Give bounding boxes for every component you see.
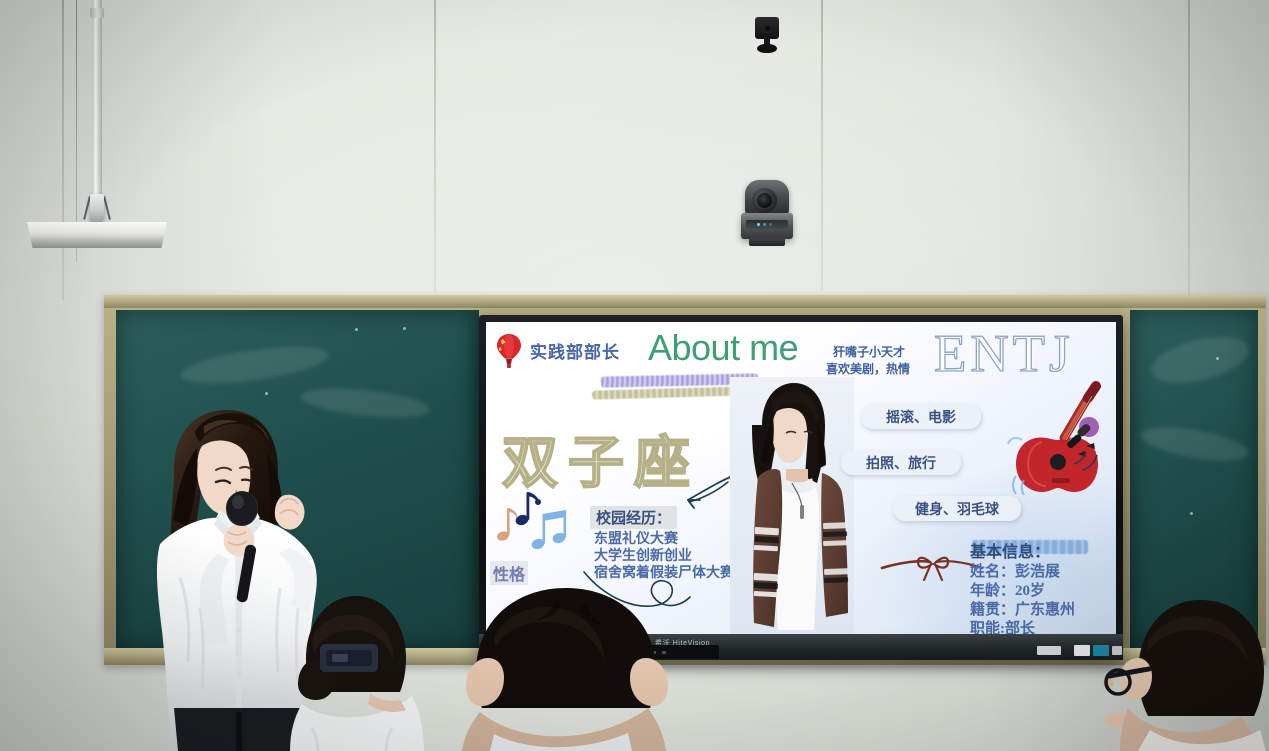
ptz-led-c	[769, 223, 772, 226]
student-front-left	[262, 588, 430, 751]
blackboard-top-rail	[104, 295, 1266, 308]
chalk-dot-5	[1190, 512, 1193, 515]
lamp-collar	[90, 8, 104, 18]
wall-camera-small-lens-icon	[763, 24, 772, 33]
classroom-photo: 实践部部长 About me 犴嘴子小天才 喜欢美剧，热情 ENTJ 双子座	[0, 0, 1269, 751]
basic-info-row-3: 职能:部长	[970, 617, 1035, 634]
ptz-led-a	[757, 223, 760, 226]
basic-info-row-0: 姓名：彭浩展	[970, 560, 1060, 581]
ptz-lens-icon	[757, 193, 772, 208]
wall-camera-small-base	[757, 44, 777, 53]
slide-subtitle-line1: 犴嘴子小天才	[833, 343, 905, 360]
slide-subtitle-line2: 喜欢美剧，热情	[826, 360, 910, 377]
chalk-dot-1	[355, 328, 358, 331]
lamp-fixture	[27, 222, 167, 248]
chalk-dot-4	[1216, 357, 1219, 360]
experience-header: 校园经历：	[590, 506, 677, 529]
hot-air-balloon-icon	[494, 333, 524, 371]
lamp-head	[90, 194, 104, 222]
student-front-center	[436, 586, 696, 751]
hobby-pill-1: 拍照、旅行	[841, 450, 961, 475]
slide-zodiac-label: 双子座	[502, 418, 700, 499]
ptz-wall-mount	[749, 238, 785, 246]
presenter-portrait-photo	[730, 377, 854, 634]
display-badge-2	[1074, 645, 1090, 656]
student-front-right	[1098, 590, 1269, 751]
display-badge-1	[1037, 646, 1061, 655]
ptz-front-strip	[746, 220, 788, 229]
ribbon-bow-icon	[880, 550, 984, 586]
slide-role-label: 实践部部长	[530, 338, 620, 363]
slide-title: About me	[648, 327, 798, 369]
basic-info-row-2: 籍贯：广东惠州	[970, 598, 1075, 619]
basic-info-row-1: 年龄：20岁	[970, 579, 1045, 600]
lamp-pole	[92, 0, 102, 196]
electric-guitar-icon	[986, 380, 1104, 500]
ptz-led-b	[763, 223, 766, 226]
basic-info-header: 基本信息：	[970, 538, 1050, 562]
hobby-pill-0: 摇滚、电影	[861, 404, 981, 429]
personality-header: 性格	[490, 561, 528, 585]
chalk-dot-2	[403, 327, 406, 330]
music-notes-icon	[494, 488, 570, 554]
chalk-dot-3	[265, 392, 268, 395]
slide-mbti-label: ENTJ	[934, 324, 1074, 384]
